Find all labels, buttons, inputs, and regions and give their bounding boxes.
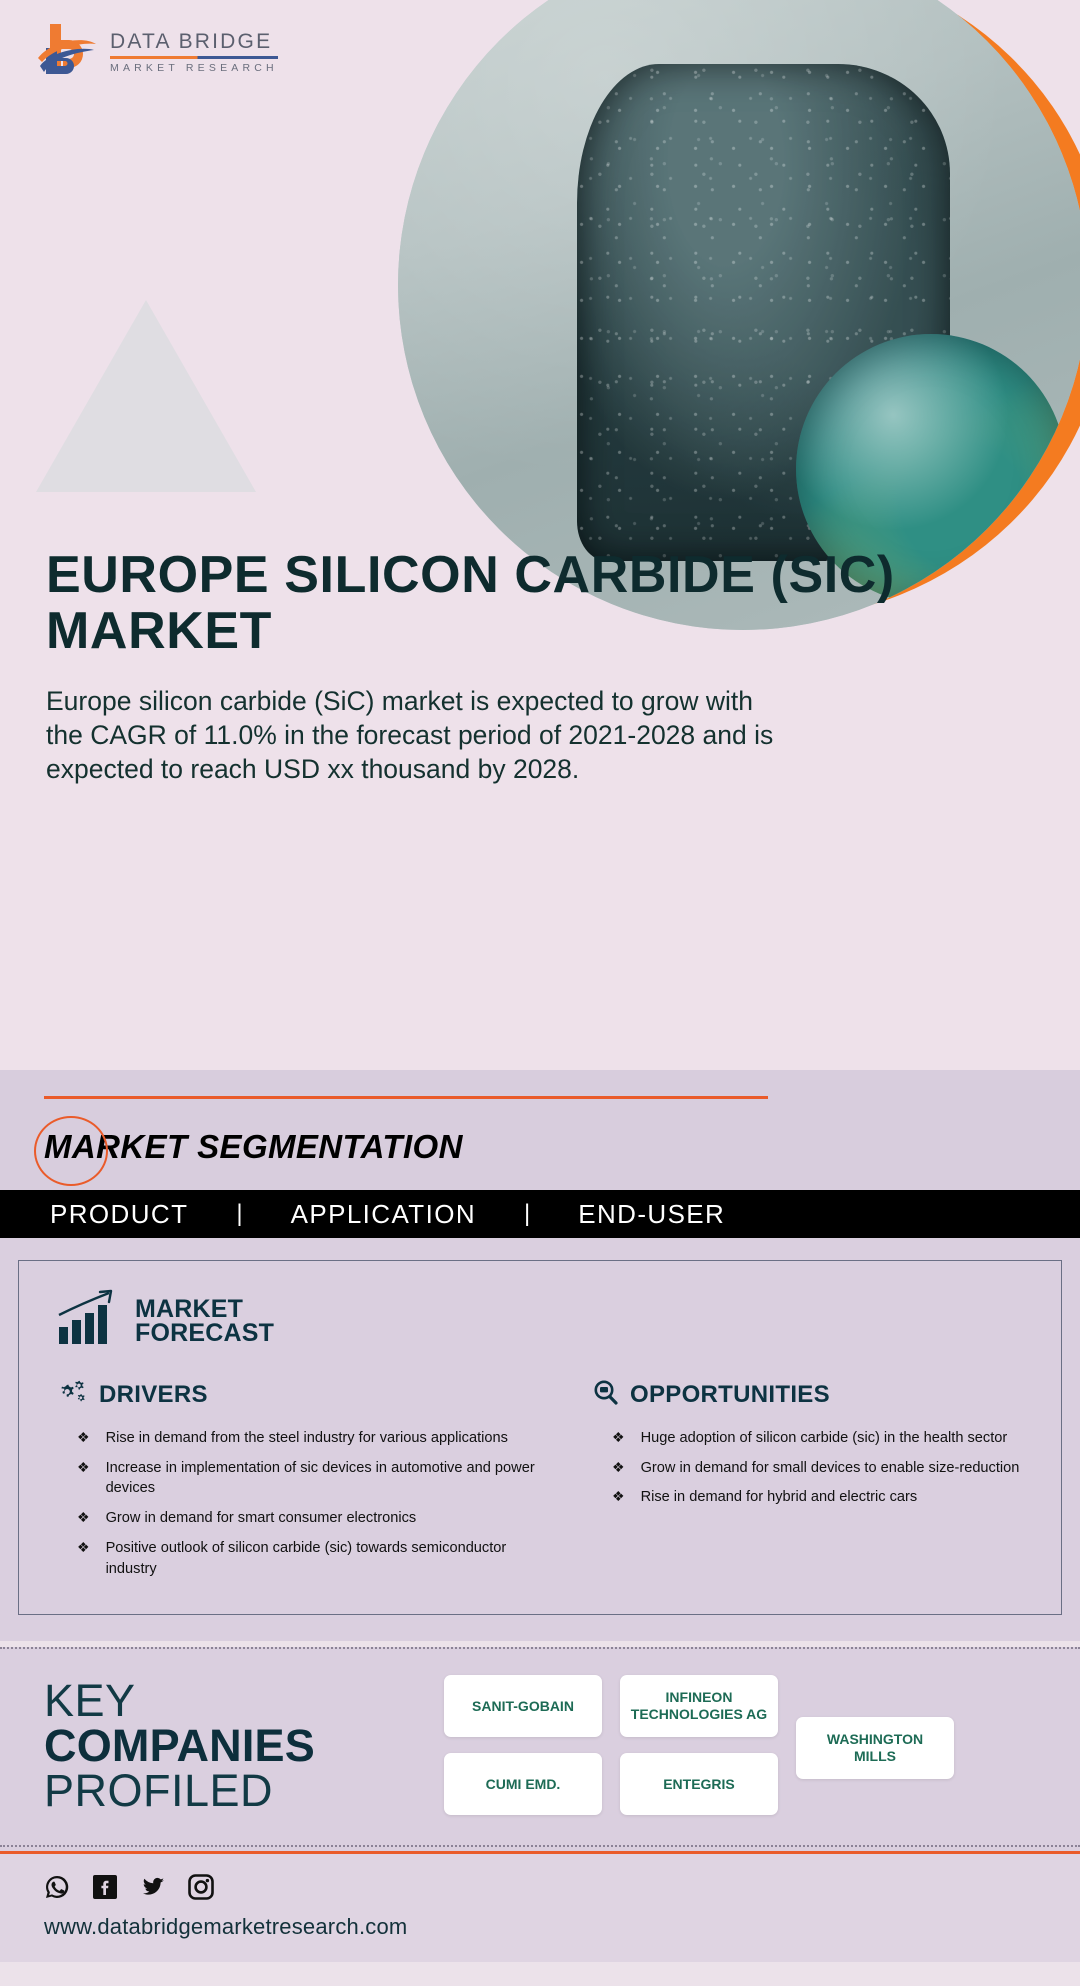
drivers-column: DRIVERS ❖ Rise in demand from the steel … [57,1379,544,1588]
diamond-bullet-icon: ❖ [77,1538,90,1558]
company-cards-grid: SANIT-GOBAIN CUMI EMD. INFINEON TECHNOLO… [444,1675,1050,1815]
segment-separator-2: | [476,1200,578,1228]
segment-product[interactable]: PRODUCT [50,1199,188,1230]
list-item: ❖ Rise in demand for hybrid and electric… [592,1487,1031,1508]
list-item: ❖ Huge adoption of silicon carbide (sic)… [592,1428,1031,1449]
website-url[interactable]: www.databridgemarketresearch.com [44,1914,1080,1940]
kc-heading-line1: KEY [44,1678,444,1723]
logo-title: DATA BRIDGE [110,31,278,52]
page-title: EUROPE SILICON CARBIDE (SIC) MARKET [46,548,946,659]
company-card[interactable]: CUMI EMD. [444,1753,602,1815]
gears-icon [57,1379,87,1410]
logo-divider [110,56,278,59]
bar-chart-growth-icon [57,1289,123,1345]
opportunities-column: OPPORTUNITIES ❖ Huge adoption of silicon… [544,1379,1031,1588]
hero-description: Europe silicon carbide (SiC) market is e… [46,685,786,787]
opportunity-text: Rise in demand for hybrid and electric c… [641,1487,918,1508]
company-column-3: WASHINGTON MILLS [796,1675,954,1779]
orange-rule [44,1096,768,1099]
list-item: ❖ Grow in demand for smart consumer elec… [57,1508,544,1529]
segmentation-category-bar: PRODUCT | APPLICATION | END-USER [0,1190,1080,1238]
drivers-heading: DRIVERS [99,1381,208,1409]
company-card[interactable]: ENTEGRIS [620,1753,778,1815]
company-card[interactable]: WASHINGTON MILLS [796,1717,954,1779]
company-card[interactable]: SANIT-GOBAIN [444,1675,602,1737]
opportunity-text: Huge adoption of silicon carbide (sic) i… [641,1428,1008,1449]
segment-end-user[interactable]: END-USER [578,1199,725,1230]
list-item: ❖ Rise in demand from the steel industry… [57,1428,544,1449]
magnifier-icon [592,1379,618,1410]
hero-section: DATA BRIDGE MARKET RESEARCH EUROPE SILIC… [0,0,1080,1070]
market-forecast-label: MARKET FORECAST [135,1297,274,1346]
hero-photo-circle [398,0,1080,630]
driver-text: Positive outlook of silicon carbide (sic… [106,1538,536,1579]
kc-heading-line2: COMPANIES [44,1723,444,1768]
driver-text: Grow in demand for smart consumer electr… [106,1508,417,1529]
market-forecast-logo: MARKET FORECAST [57,1289,1031,1345]
forecast-logo-line1: MARKET [135,1297,274,1321]
forecast-columns: DRIVERS ❖ Rise in demand from the steel … [57,1379,1031,1588]
dotted-divider-bottom [0,1845,1080,1847]
list-item: ❖ Increase in implementation of sic devi… [57,1458,544,1499]
footer-section: www.databridgemarketresearch.com [0,1851,1080,1962]
forecast-logo-line2: FORECAST [135,1321,274,1345]
company-column-1: SANIT-GOBAIN CUMI EMD. [444,1675,602,1815]
data-bridge-logo-icon [36,18,98,82]
diamond-bullet-icon: ❖ [612,1458,625,1478]
diamond-bullet-icon: ❖ [77,1508,90,1528]
diamond-bullet-icon: ❖ [612,1428,625,1448]
key-companies-heading: KEY COMPANIES PROFILED [44,1678,444,1813]
opportunity-text: Grow in demand for small devices to enab… [641,1458,1020,1479]
hero-text-block: EUROPE SILICON CARBIDE (SIC) MARKET Euro… [46,548,946,787]
segment-separator-1: | [188,1200,290,1228]
key-companies-section: KEY COMPANIES PROFILED SANIT-GOBAIN CUMI… [0,1647,1080,1851]
kc-heading-line3: PROFILED [44,1768,444,1813]
instagram-icon[interactable] [188,1874,214,1900]
driver-text: Increase in implementation of sic device… [106,1458,536,1499]
list-item: ❖ Positive outlook of silicon carbide (s… [57,1538,544,1579]
opportunities-list: ❖ Huge adoption of silicon carbide (sic)… [592,1428,1031,1508]
segmentation-title-wrap: MARKET SEGMENTATION [44,1128,463,1166]
orange-circle-decoration [34,1116,108,1186]
segment-application[interactable]: APPLICATION [291,1199,476,1230]
whatsapp-icon[interactable] [44,1874,70,1900]
company-card[interactable]: INFINEON TECHNOLOGIES AG [620,1675,778,1737]
logo-subtitle: MARKET RESEARCH [110,63,278,74]
diamond-bullet-icon: ❖ [612,1487,625,1507]
market-segmentation-section: MARKET SEGMENTATION [0,1070,1080,1190]
twitter-icon[interactable] [140,1874,166,1900]
drivers-header: DRIVERS [57,1379,544,1410]
logo-text-block: DATA BRIDGE MARKET RESEARCH [110,27,278,74]
diamond-bullet-icon: ❖ [77,1428,90,1448]
triangle-decoration [36,300,256,492]
driver-text: Rise in demand from the steel industry f… [106,1428,508,1449]
opportunities-header: OPPORTUNITIES [592,1379,1031,1410]
market-forecast-section: MARKET FORECAST [0,1238,1080,1641]
drivers-list: ❖ Rise in demand from the steel industry… [57,1428,544,1579]
opportunities-heading: OPPORTUNITIES [630,1381,830,1409]
facebook-icon[interactable] [92,1874,118,1900]
list-item: ❖ Grow in demand for small devices to en… [592,1458,1031,1479]
forecast-box: MARKET FORECAST [18,1260,1062,1615]
key-companies-inner: KEY COMPANIES PROFILED SANIT-GOBAIN CUMI… [0,1649,1080,1839]
company-column-2: INFINEON TECHNOLOGIES AG ENTEGRIS [620,1675,778,1815]
company-logo[interactable]: DATA BRIDGE MARKET RESEARCH [36,18,278,82]
diamond-bullet-icon: ❖ [77,1458,90,1478]
social-icons-row [44,1874,1080,1900]
